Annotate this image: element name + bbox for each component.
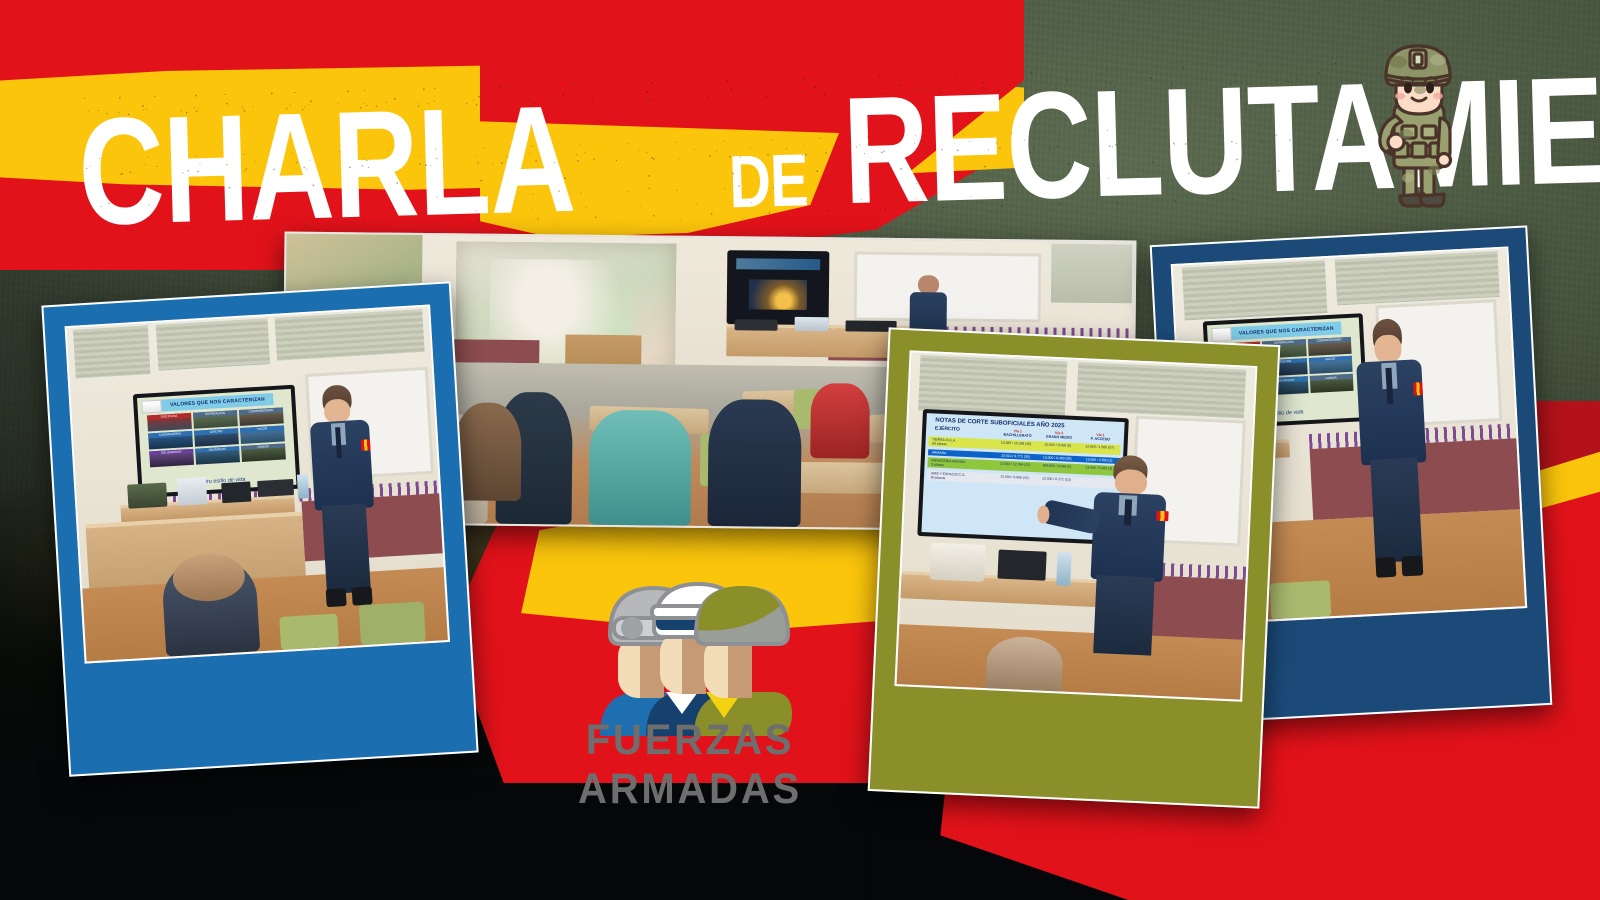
photo-left-polaroid: VALORES QUE NOS CARACTERIZAN DISCIPLINA … [41, 281, 478, 776]
slide-logo [141, 400, 162, 415]
student-figure [707, 399, 802, 527]
table-col-ejercito: EJÉRCITO [929, 426, 997, 437]
col-name: P. ACCESO [1080, 437, 1122, 443]
student-figure [589, 410, 692, 526]
photo-right-officer [1350, 317, 1437, 578]
photo-left-officer [302, 384, 384, 608]
poster-title: CHARLA DE RECLUTAMIENTO [76, 42, 1340, 237]
photo-olive-officer [1070, 453, 1175, 656]
col-name: GRADO MEDIO [1038, 435, 1080, 441]
col-name: BACHILLERATO [997, 433, 1039, 439]
student-figure [810, 383, 870, 458]
recruitment-talk-poster: CHARLA DE RECLUTAMIENTO [0, 0, 1600, 900]
fuerzas-armadas-caption: FUERZAS ARMADAS [495, 716, 886, 814]
slide-photo-grid: DISCIPLINA SUPERACIÓN COMPAÑERISMO CAMAR… [147, 408, 286, 468]
photo-center-screen [727, 250, 830, 326]
photo-olive-image: NOTAS DE CORTE SUBOFICIALES AÑO 2025 EJÉ… [894, 350, 1257, 701]
saluting-soldier-mascot-icon [1348, 30, 1488, 220]
title-word-de: DE [728, 149, 808, 213]
student-figure [453, 402, 522, 501]
title-word-charla: CHARLA [77, 96, 576, 237]
photo-olive-polaroid: NOTAS DE CORTE SUBOFICIALES AÑO 2025 EJÉ… [868, 327, 1281, 808]
slide-logo [1211, 327, 1231, 342]
photo-left-image: VALORES QUE NOS CARACTERIZAN DISCIPLINA … [65, 305, 450, 664]
